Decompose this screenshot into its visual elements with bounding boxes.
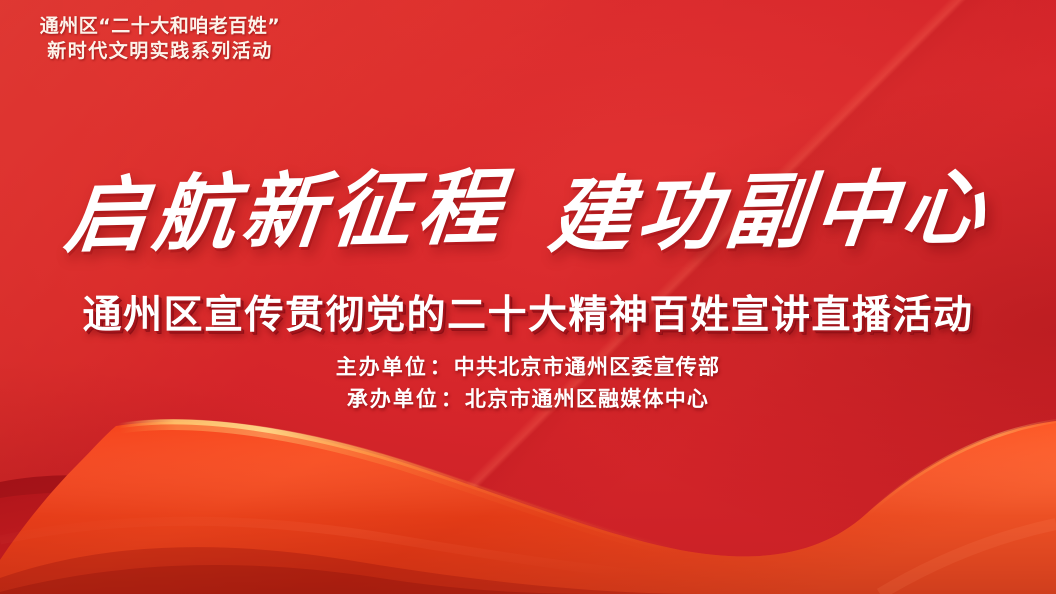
organizer-block: 主办单位：中共北京市通州区委宣传部 承办单位：北京市通州区融媒体中心 (0, 352, 1056, 416)
poster-eyebrow: 通州区“二十大和咱老百姓” 新时代文明实践系列活动 (0, 14, 320, 65)
organizer-row-host: 主办单位：中共北京市通州区委宣传部 (0, 352, 1056, 384)
poster-subtitle: 通州区宣传贯彻党的二十大精神百姓宣讲直播活动 (0, 284, 1056, 340)
organizer-row-coorganizer: 承办单位：北京市通州区融媒体中心 (0, 384, 1056, 416)
eyebrow-line-1: 通州区“二十大和咱老百姓” (0, 14, 320, 39)
eyebrow-line-2: 新时代文明实践系列活动 (0, 39, 320, 64)
organizer-label-coorganizer: 承办单位 (347, 387, 439, 411)
organizer-separator-coorganizer: ： (439, 387, 465, 411)
organizer-label-host: 主办单位 (336, 355, 428, 379)
organizer-separator-host: ： (428, 355, 454, 379)
main-title-part-1: 启航新征程 (61, 163, 511, 261)
organizer-value-coorganizer: 北京市通州区融媒体中心 (465, 387, 709, 411)
main-title: 启航新征程 建功副中心 (0, 168, 1056, 257)
event-poster: 通州区“二十大和咱老百姓” 新时代文明实践系列活动 启航新征程 建功副中心 通州… (0, 0, 1056, 594)
organizer-value-host: 中共北京市通州区委宣传部 (454, 355, 720, 379)
main-title-part-2: 建功副中心 (545, 163, 995, 261)
